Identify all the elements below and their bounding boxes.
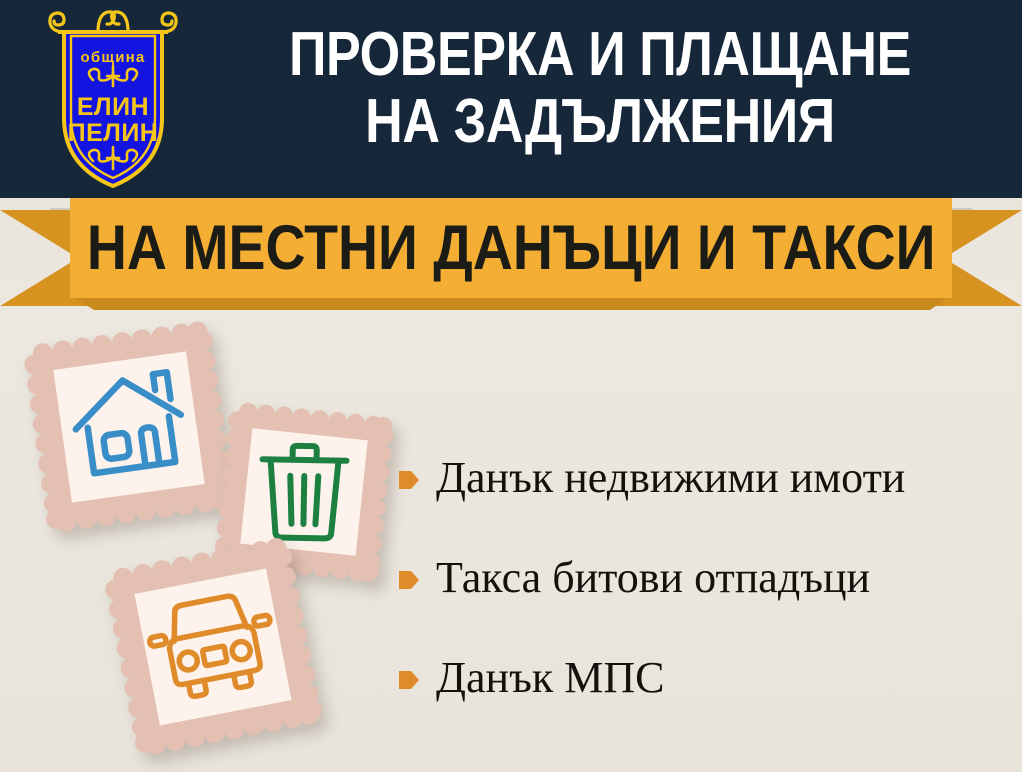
logo-line2: ЕЛИН	[77, 93, 149, 121]
list-item[interactable]: Данък МПС	[398, 628, 1018, 728]
ribbon-band: НА МЕСТНИ ДАНЪЦИ И ТАКСИ	[70, 198, 952, 298]
list-item[interactable]: Такса битови отпадъци	[398, 528, 1018, 628]
list-item-label: Данък МПС	[436, 656, 664, 700]
list-item[interactable]: Данък недвижими имоти	[398, 428, 1018, 528]
list-item-label: Такса битови отпадъци	[436, 556, 870, 600]
list-item-label: Данък недвижими имоти	[436, 456, 905, 500]
arrow-bullet-icon	[398, 468, 420, 492]
ribbon-label: НА МЕСТНИ ДАНЪЦИ И ТАКСИ	[87, 217, 936, 280]
page-title-line1: ПРОВЕРКА И ПЛАЩАНЕ	[256, 22, 945, 89]
arrow-bullet-icon	[398, 568, 420, 592]
logo-line1: община	[81, 49, 146, 66]
tax-type-list: Данък недвижими имоти Такса битови отпад…	[398, 428, 1018, 728]
trash-bin-icon	[261, 445, 347, 538]
arrow-bullet-icon	[398, 668, 420, 692]
logo-line3: ПЕЛИН	[68, 119, 159, 147]
car-stamp-card	[98, 532, 328, 762]
page-title-line2: НА ЗАДЪЛЖЕНИЯ	[256, 89, 945, 156]
municipality-logo: община ЕЛИН ПЕЛИН	[38, 6, 188, 192]
poster-canvas: община ЕЛИН ПЕЛИН ПРОВЕРКА И ПЛАЩАНЕ НА …	[0, 0, 1022, 772]
ribbon-banner: НА МЕСТНИ ДАНЪЦИ И ТАКСИ	[0, 196, 1022, 314]
page-title: ПРОВЕРКА И ПЛАЩАНЕ НА ЗАДЪЛЖЕНИЯ	[256, 22, 945, 156]
ribbon-shadow	[72, 296, 950, 310]
